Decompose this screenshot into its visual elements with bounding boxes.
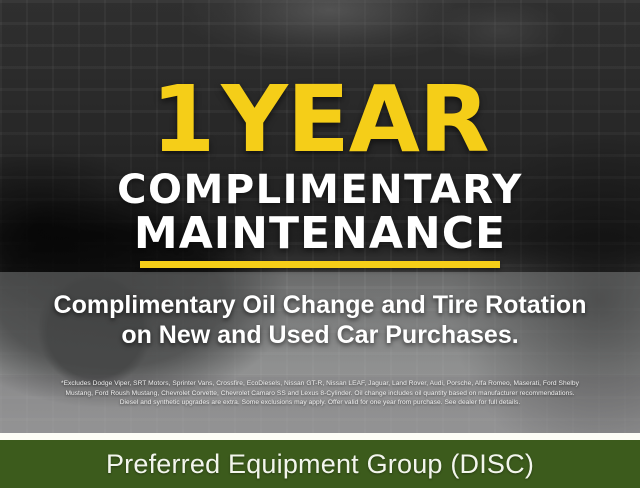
yellow-divider-rule bbox=[140, 261, 500, 268]
complimentary-line: COMPLIMENTARY bbox=[0, 170, 640, 210]
promo-advertisement-card: 1YEAR COMPLIMENTARY MAINTENANCE Complime… bbox=[0, 0, 640, 488]
disclaimer-line-1: *Excludes Dodge Viper, SRT Motors, Sprin… bbox=[12, 379, 628, 389]
year-word: YEAR bbox=[221, 66, 489, 173]
banner-separator bbox=[0, 433, 640, 440]
offer-headline-line-1: Complimentary Oil Change and Tire Rotati… bbox=[54, 291, 587, 319]
equipment-group-label: Preferred Equipment Group (DISC) bbox=[106, 449, 534, 480]
year-headline: 1YEAR bbox=[0, 74, 640, 166]
maintenance-line: MAINTENANCE bbox=[0, 212, 640, 256]
offer-headline: Complimentary Oil Change and Tire Rotati… bbox=[0, 290, 640, 350]
disclaimer-text: *Excludes Dodge Viper, SRT Motors, Sprin… bbox=[12, 379, 628, 408]
disclaimer-line-2: Mustang, Ford Roush Mustang, Chevrolet C… bbox=[12, 389, 628, 399]
equipment-group-banner: Preferred Equipment Group (DISC) bbox=[0, 440, 640, 488]
offer-headline-line-2: on New and Used Car Purchases. bbox=[0, 320, 640, 350]
disclaimer-line-3: Diesel and synthetic upgrades are extra.… bbox=[12, 398, 628, 408]
year-number: 1 bbox=[151, 66, 221, 173]
